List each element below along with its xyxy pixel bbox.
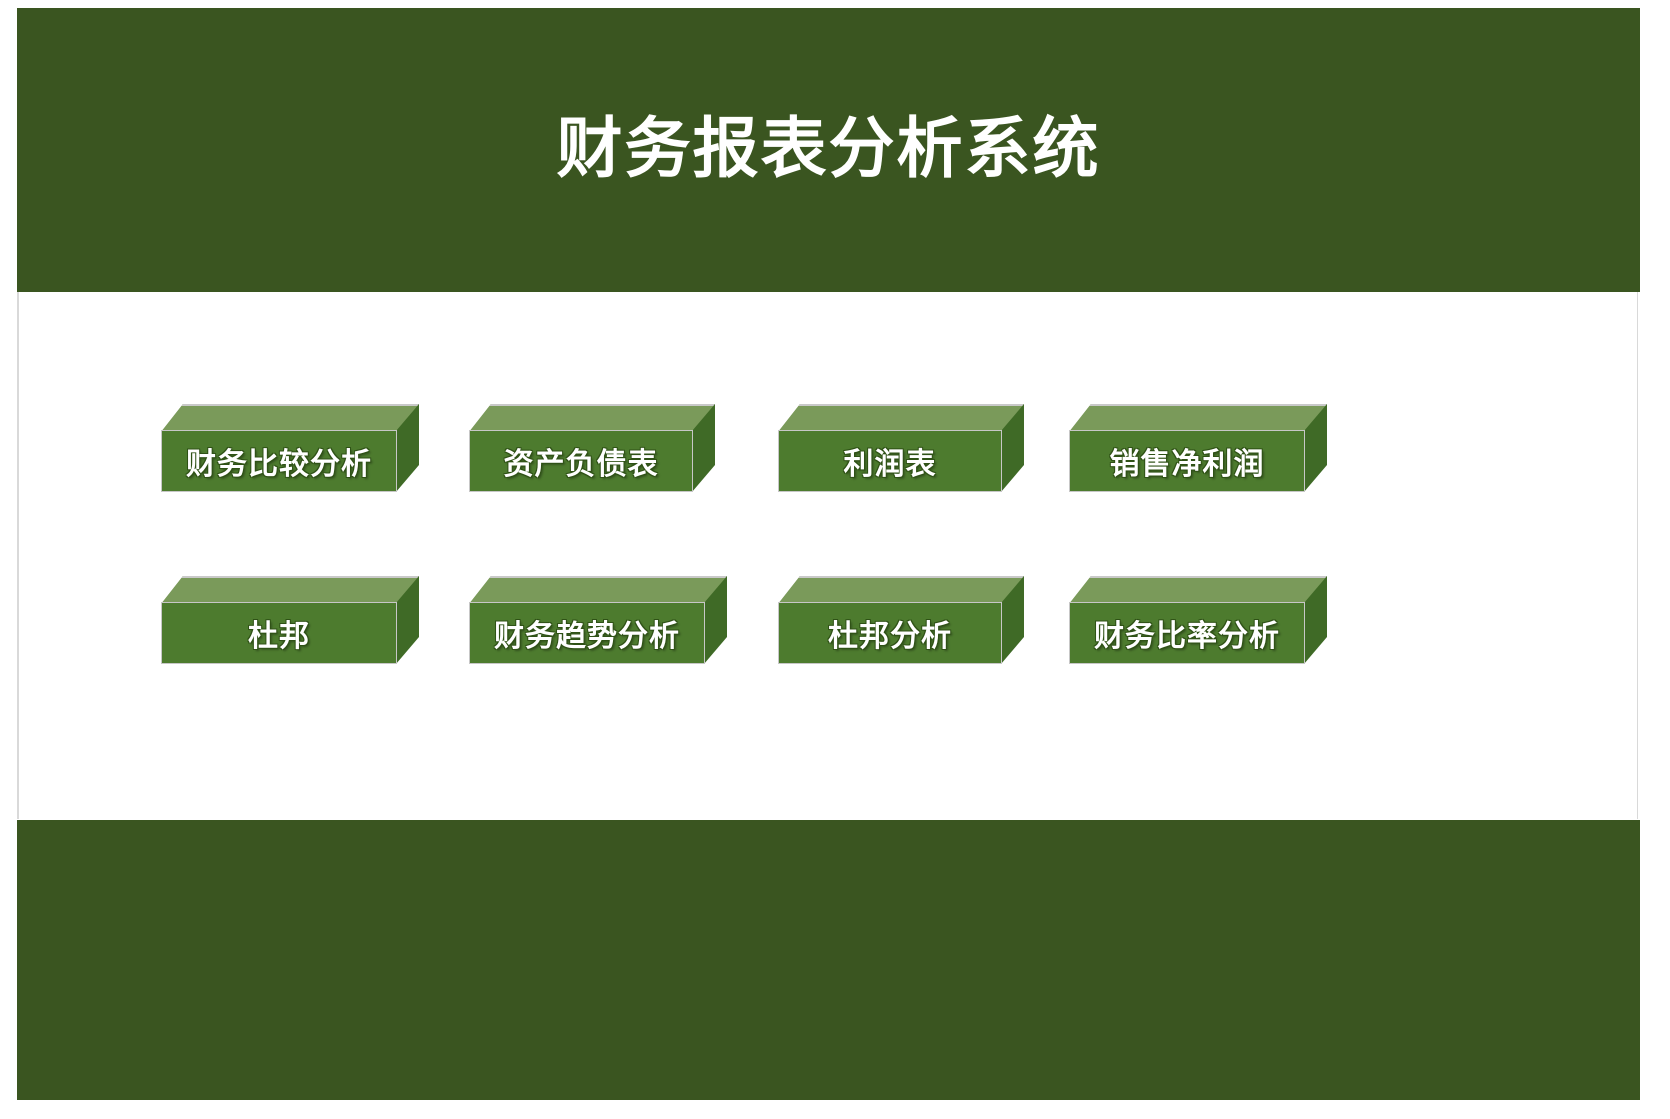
- button-top-face: [469, 576, 727, 604]
- button-label: 财务比率分析: [1094, 611, 1280, 655]
- button-label: 销售净利润: [1110, 439, 1265, 483]
- button-label: 财务趋势分析: [494, 611, 680, 655]
- button-dupont[interactable]: 杜邦: [161, 576, 419, 664]
- button-top-face: [778, 404, 1024, 432]
- button-income-statement[interactable]: 利润表: [778, 404, 1024, 492]
- button-top-face: [778, 576, 1024, 604]
- content-panel: 财务比较分析 资产负债表 利润表: [17, 292, 1638, 819]
- button-front-face[interactable]: 财务趋势分析: [469, 602, 705, 664]
- page-title: 财务报表分析系统: [17, 108, 1640, 188]
- button-row-1: 财务比较分析 资产负债表 利润表: [19, 404, 1637, 524]
- button-dupont-analysis[interactable]: 杜邦分析: [778, 576, 1024, 664]
- button-front-face[interactable]: 利润表: [778, 430, 1002, 492]
- button-grid: 财务比较分析 资产负债表 利润表: [19, 292, 1637, 819]
- button-front-face[interactable]: 财务比较分析: [161, 430, 397, 492]
- application-window: 财务报表分析系统 财务比较分析 资产负债表: [17, 8, 1640, 1100]
- button-front-face[interactable]: 杜邦: [161, 602, 397, 664]
- button-label: 资产负债表: [504, 439, 659, 483]
- button-label: 财务比较分析: [186, 439, 372, 483]
- button-top-face: [161, 404, 419, 432]
- button-top-face: [1069, 404, 1327, 432]
- button-top-face: [1069, 576, 1327, 604]
- header-band: 财务报表分析系统: [17, 8, 1640, 292]
- button-label: 利润表: [844, 439, 937, 483]
- button-financial-trend-analysis[interactable]: 财务趋势分析: [469, 576, 727, 664]
- footer-band: [17, 820, 1640, 1100]
- button-net-sales-profit[interactable]: 销售净利润: [1069, 404, 1327, 492]
- button-top-face: [161, 576, 419, 604]
- button-financial-comparison-analysis[interactable]: 财务比较分析: [161, 404, 419, 492]
- button-label: 杜邦: [248, 611, 310, 655]
- button-label: 杜邦分析: [828, 611, 952, 655]
- button-front-face[interactable]: 杜邦分析: [778, 602, 1002, 664]
- button-balance-sheet[interactable]: 资产负债表: [469, 404, 715, 492]
- button-front-face[interactable]: 资产负债表: [469, 430, 693, 492]
- button-front-face[interactable]: 财务比率分析: [1069, 602, 1305, 664]
- button-row-2: 杜邦 财务趋势分析 杜邦分析: [19, 576, 1637, 696]
- button-financial-ratio-analysis[interactable]: 财务比率分析: [1069, 576, 1327, 664]
- button-top-face: [469, 404, 715, 432]
- button-front-face[interactable]: 销售净利润: [1069, 430, 1305, 492]
